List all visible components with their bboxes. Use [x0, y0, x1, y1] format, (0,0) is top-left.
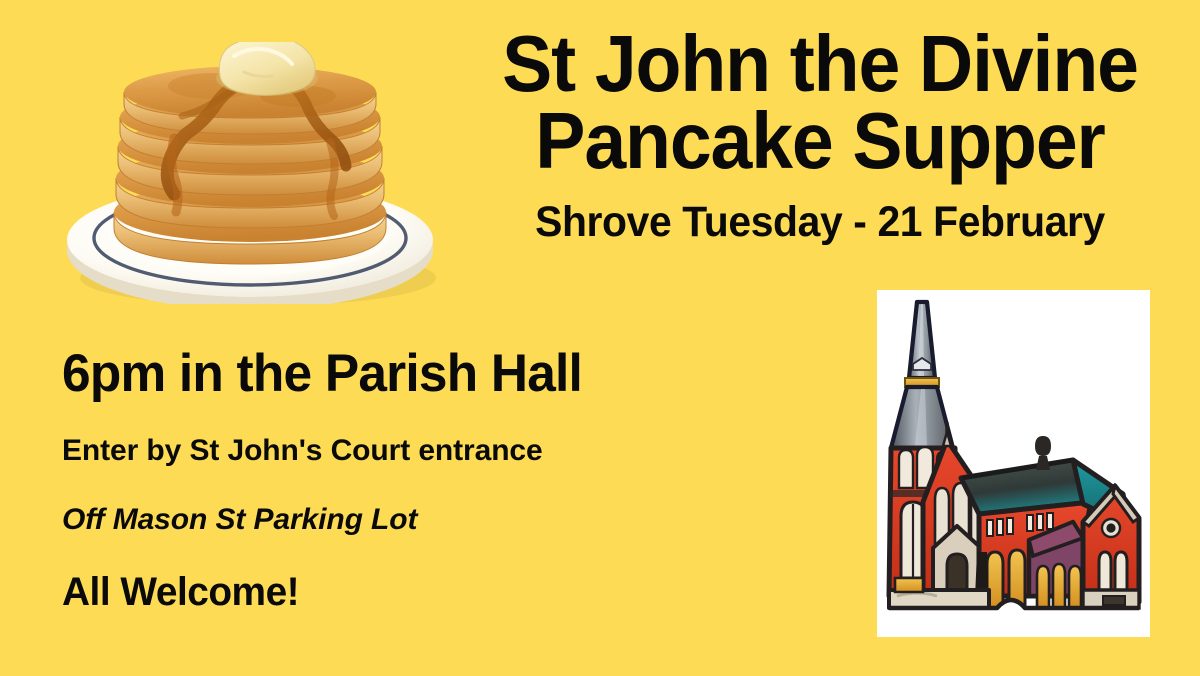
parking-instruction: Off Mason St Parking Lot	[62, 500, 682, 540]
time-and-location: 6pm in the Parish Hall	[62, 346, 663, 402]
page-title-line-2: Pancake Supper	[491, 103, 1149, 180]
event-date-subtitle: Shrove Tuesday - 21 February	[488, 200, 1153, 245]
details-block: 6pm in the Parish Hall Enter by St John'…	[62, 346, 682, 615]
entrance-instruction: Enter by St John's Court entrance	[62, 431, 682, 471]
welcome-message: All Welcome!	[62, 570, 663, 615]
page-title-line-1: St John the Divine	[491, 26, 1149, 103]
pancake-stack-photo	[62, 42, 448, 304]
church-illustration	[877, 290, 1150, 637]
headline-block: St John the Divine Pancake Supper Shrove…	[470, 26, 1170, 245]
poster-canvas: St John the Divine Pancake Supper Shrove…	[0, 0, 1200, 676]
